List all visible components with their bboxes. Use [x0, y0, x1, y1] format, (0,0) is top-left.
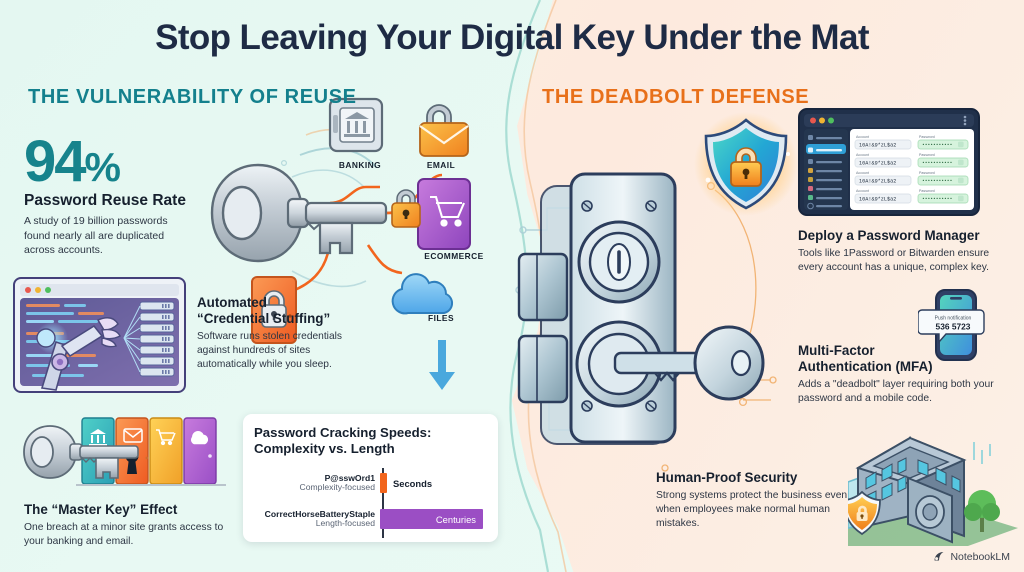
password-cracking-chart: Password Cracking Speeds: Complexity vs.… [243, 414, 498, 542]
brand-name: NotebookLM [950, 551, 1010, 563]
svg-text:•••••••••••: ••••••••••• [922, 179, 952, 184]
mfa-heading-line2: Authentication (MFA) [798, 359, 933, 374]
chart-sublabel-1: Length-focused [254, 519, 375, 529]
text-block-human-proof: Human-Proof Security Strong systems prot… [656, 470, 856, 531]
svg-text:10A!&9*zL$a2: 10A!&9*zL$a2 [859, 142, 896, 148]
chart-bar-length: Centuries [380, 509, 483, 529]
svg-text:10A!&9*zL$a2: 10A!&9*zL$a2 [859, 178, 896, 184]
svg-text:Password: Password [919, 135, 935, 139]
chart-row-length: CorrectHorseBatteryStaple Length-focused… [254, 506, 487, 533]
text-block-password-manager: Deploy a Password Manager Tools like 1Pa… [798, 228, 1010, 275]
credential-stuffing-illustration [12, 276, 187, 394]
human-proof-security-illustration [848, 416, 1018, 546]
mfa-heading: Multi-Factor Authentication (MFA) [798, 343, 1010, 375]
svg-text:•••••••••••: ••••••••••• [922, 161, 952, 166]
circuit-traces-right [662, 183, 776, 471]
page-title: Stop Leaving Your Digital Key Under the … [0, 18, 1024, 58]
svg-text:Account: Account [856, 153, 869, 157]
credential-stuffing-heading-line2: “Credential Stuffing” [197, 311, 330, 326]
svg-text:Account: Account [856, 189, 869, 193]
kebab-menu-icon [964, 116, 967, 126]
shield-lock-icon [692, 108, 800, 220]
password-manager-body: Tools like 1Password or Bitwarden ensure… [798, 247, 1010, 275]
mfa-heading-line1: Multi-Factor [798, 343, 875, 358]
svg-text:•••••••••••: ••••••••••• [922, 197, 952, 202]
upper-keyhole-cylinder [579, 222, 659, 302]
svg-text:Password: Password [919, 171, 935, 175]
mfa-body: Adds a "deadbolt" layer requiring both y… [798, 378, 1010, 406]
tile-label-banking: BANKING [330, 160, 390, 170]
credential-stuffing-body: Software runs stolen credentials against… [197, 330, 369, 371]
svg-text:•••••••••••: ••••••••••• [922, 143, 952, 148]
chart-row-complexity: P@sswOrd1 Complexity-focused Seconds [254, 470, 487, 497]
files-tile-icon [393, 274, 452, 313]
human-proof-heading: Human-Proof Security [656, 470, 856, 486]
brand-notebooklm: NotebookLM [933, 550, 1010, 563]
stat-label: Password Reuse Rate [24, 192, 224, 210]
chart-value-label-0: Seconds [393, 478, 432, 489]
svg-text:10A!&9*zL$a2: 10A!&9*zL$a2 [859, 196, 896, 202]
infographic-poster: Stop Leaving Your Digital Key Under the … [0, 0, 1024, 572]
text-block-master-key: The “Master Key” Effect One breach at a … [24, 502, 229, 549]
section-heading-vulnerability: THE VULNERABILITY OF REUSE [28, 85, 357, 109]
section-heading-deadbolt: THE DEADBOLT DEFENSE [542, 85, 809, 109]
stat-percent-sign: % [85, 144, 119, 190]
section-heading-vulnerability-text: THE VULNERABILITY OF REUSE [28, 86, 357, 108]
password-manager-heading: Deploy a Password Manager [798, 228, 1010, 244]
tile-label-files: FILES [414, 313, 468, 323]
chart-plot-area: P@sswOrd1 Complexity-focused Seconds Cor… [254, 468, 487, 540]
chart-title: Password Cracking Speeds: Complexity vs.… [254, 425, 487, 457]
credential-stuffing-heading-line1: Automated [197, 295, 267, 310]
text-block-mfa: Multi-Factor Authentication (MFA) Adds a… [798, 343, 1010, 406]
master-key-doors-illustration [18, 412, 230, 500]
down-arrow-icon [424, 340, 460, 392]
master-key-body: One breach at a minor site grants access… [24, 521, 229, 549]
tile-label-email: EMAIL [412, 160, 470, 170]
chart-bar-complexity [380, 473, 387, 493]
chart-row-length-labels: CorrectHorseBatteryStaple Length-focused [254, 510, 380, 529]
chart-row-complexity-labels: P@sswOrd1 Complexity-focused [254, 474, 380, 493]
skeleton-key-icon [212, 165, 386, 261]
svg-text:Password: Password [919, 153, 935, 157]
svg-text:Password: Password [919, 189, 935, 193]
section-heading-deadbolt-text: THE DEADBOLT DEFENSE [542, 86, 809, 108]
accent-lines [974, 442, 990, 464]
notebooklm-icon [933, 550, 946, 563]
human-proof-body: Strong systems protect the business even… [656, 489, 856, 531]
text-block-credential-stuffing: Automated “Credential Stuffing” Software… [197, 295, 372, 371]
stat-number: 94% [24, 134, 224, 189]
pwm-sidebar-items [806, 135, 846, 209]
ecommerce-tile-icon [392, 179, 470, 249]
svg-text:Account: Account [856, 171, 869, 175]
chart-title-line1: Password Cracking Speeds: [254, 425, 431, 440]
svg-text:10A!&9*zL$a2: 10A!&9*zL$a2 [859, 160, 896, 166]
svg-text:536 5723: 536 5723 [936, 322, 971, 332]
stat-body: A study of 19 billion passwords found ne… [24, 214, 184, 257]
master-key-heading: The “Master Key” Effect [24, 502, 229, 518]
email-tile-icon [420, 105, 468, 156]
chart-title-line2: Complexity vs. Length [254, 441, 395, 456]
stat-password-reuse: 94% Password Reuse Rate A study of 19 bi… [24, 134, 224, 258]
chart-value-label-1: Centuries [436, 514, 476, 525]
svg-text:Account: Account [856, 135, 869, 139]
tile-label-ecommerce: ECOMMERCE [412, 251, 496, 261]
stat-number-value: 94 [24, 129, 85, 194]
chart-sublabel-0: Complexity-focused [254, 483, 375, 493]
password-manager-mockup[interactable]: Account 10A!&9*zL$a2 Password ••••••••••… [798, 108, 980, 216]
